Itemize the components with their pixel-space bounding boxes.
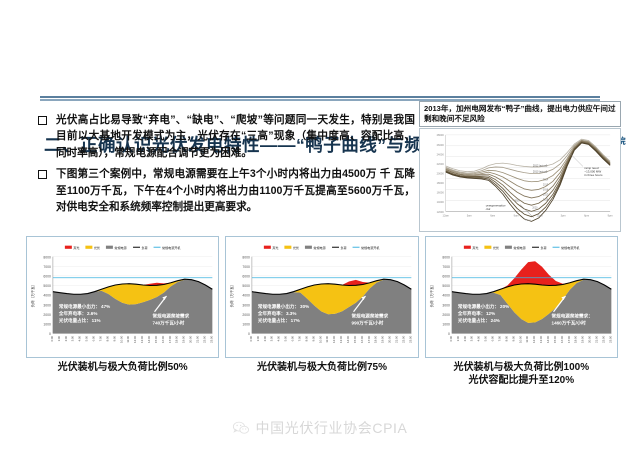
x-tick-label: 6:00: [490, 335, 494, 341]
x-tick-label: 12:00: [532, 335, 536, 343]
legend-label: 弃光: [273, 245, 279, 250]
x-tick-label: 3:00: [270, 335, 274, 341]
bullet-list: 光伏高占比易导致“弃电”、“缺电”、“爬坡”等问题同一天发生，特别是我国目前以大…: [33, 112, 415, 220]
list-item: 光伏高占比易导致“弃电”、“缺电”、“爬坡”等问题同一天发生，特别是我国目前以大…: [33, 112, 415, 161]
bullet-hanging-char: 千: [380, 168, 391, 180]
svg-text:7000: 7000: [243, 265, 251, 269]
svg-text:8000: 8000: [442, 255, 450, 259]
legend-label: 常规电源: [114, 245, 126, 250]
ramp-note-line: 常规电源爬坡需求: [352, 313, 389, 320]
duck-curve-svg: 1200014000160001800020000220002400026000…: [420, 129, 620, 231]
svg-text:28000: 28000: [437, 133, 445, 137]
x-tick-label: 5:00: [284, 335, 288, 341]
x-tick-label: 4:00: [78, 335, 82, 341]
svg-text:5000: 5000: [442, 284, 450, 288]
svg-text:7000: 7000: [43, 265, 51, 269]
x-tick-label: 2:00: [64, 335, 68, 341]
duck-curve-chart: 1200014000160001800020000220002400026000…: [419, 128, 621, 232]
x-tick-label: 14:00: [147, 335, 151, 343]
svg-text:2016: 2016: [543, 188, 549, 191]
x-tick-label: 8:00: [105, 335, 109, 341]
x-tick-label: 2:00: [462, 335, 466, 341]
x-tick-label: 18:00: [573, 335, 577, 343]
svg-text:2000: 2000: [43, 313, 51, 317]
chart-caption: 光伏装机与极大负荷比例100%光伏容配比提升至120%: [425, 362, 618, 387]
x-tick-label: 20:00: [189, 335, 193, 343]
x-tick-label: 15:00: [353, 335, 357, 343]
scenario-chart-card: 010002000300040005000600070008000负荷（万千瓦）…: [425, 236, 618, 386]
svg-text:1000: 1000: [442, 322, 450, 326]
stat-label: 光伏电量占比：: [58, 317, 91, 324]
x-tick-label: 22:00: [402, 335, 406, 343]
slide-footer: 中国光伏行业协会CPIA: [0, 406, 640, 452]
x-tick-label: 19:00: [381, 335, 385, 343]
svg-text:4000: 4000: [243, 294, 251, 298]
x-tick-label: 13:00: [339, 335, 343, 343]
svg-text:2013 (actual): 2013 (actual): [533, 171, 548, 174]
svg-text:2018: 2018: [543, 198, 549, 201]
wechat-icon: [233, 421, 250, 435]
legend-label: 光伏: [293, 245, 299, 250]
stat-value: 11%: [92, 318, 101, 323]
svg-text:3pm: 3pm: [561, 213, 566, 217]
y-axis-label: 负荷（万千瓦）: [30, 283, 35, 308]
stat-label: 全年弃电率：: [457, 310, 485, 317]
svg-text:6000: 6000: [243, 275, 251, 279]
svg-text:3000: 3000: [43, 303, 51, 307]
svg-text:9pm: 9pm: [608, 213, 613, 217]
svg-text:8000: 8000: [43, 255, 51, 259]
x-tick-label: 4:00: [476, 335, 480, 341]
svg-text:2000: 2000: [442, 313, 450, 317]
chart-caption-line: 光伏装机与极大负荷比例75%: [225, 362, 418, 375]
watermark-text: 中国光伏行业协会CPIA: [256, 418, 408, 438]
x-tick-label: 6:00: [291, 335, 295, 341]
header-divider: [40, 96, 600, 101]
legend-label: 常规电源: [314, 245, 326, 250]
x-tick-label: 0:00: [249, 335, 253, 341]
svg-text:12am: 12am: [443, 213, 449, 217]
x-tick-label: 4:00: [277, 335, 281, 341]
svg-text:5000: 5000: [243, 284, 251, 288]
x-tick-label: 18:00: [175, 335, 179, 343]
x-tick-label: 7:00: [497, 335, 501, 341]
bullet-square-icon: [38, 116, 47, 125]
svg-text:0: 0: [448, 332, 450, 336]
x-tick-label: 9:00: [312, 335, 316, 341]
x-tick-label: 23:00: [409, 335, 413, 343]
stat-label: 光伏电量占比：: [457, 317, 490, 324]
x-tick-label: 3:00: [469, 335, 473, 341]
stat-value: 20%: [500, 304, 509, 309]
slide-root: 二、正确认识光伏发电特性——“鸭子曲线”与频率调节 水电水利规划设计总院 Chi…: [0, 0, 640, 452]
ramp-note-line: 常规电源爬坡需求：: [551, 313, 592, 320]
x-tick-label: 11:00: [126, 335, 130, 342]
ramp-note-line: 常规电源爬坡需求: [153, 313, 190, 320]
stat-label: 常规电源最小出力：: [258, 303, 299, 310]
svg-text:3000: 3000: [243, 303, 251, 307]
bullet-square-icon: [38, 170, 47, 179]
x-tick-label: 5:00: [483, 335, 487, 341]
x-tick-label: 16:00: [161, 335, 165, 343]
scenario-chart-card: 010002000300040005000600070008000负荷（万千瓦）…: [26, 236, 219, 386]
stat-label: 常规电源最小出力：: [458, 303, 499, 310]
svg-text:4000: 4000: [442, 294, 450, 298]
x-tick-label: 0:00: [449, 335, 453, 341]
x-tick-label: 17:00: [367, 335, 371, 343]
x-tick-label: 16:00: [559, 335, 563, 343]
duck-series-lines: [446, 139, 610, 221]
x-tick-label: 23:00: [209, 335, 213, 343]
svg-text:1000: 1000: [43, 322, 51, 326]
x-tick-label: 1:00: [456, 335, 460, 341]
x-tick-label: 7:00: [298, 335, 302, 341]
x-tick-label: 20:00: [587, 335, 591, 343]
list-item: 下图第三个案例中，常规电源需要在上午3个小时内将出力由4500万 千 瓦降至11…: [33, 166, 415, 215]
x-tick-label: 21:00: [395, 335, 399, 343]
x-tick-label: 23:00: [608, 335, 612, 343]
x-tick-label: 2:00: [263, 335, 267, 341]
svg-text:12pm: 12pm: [536, 213, 542, 217]
legend-label: 负荷: [141, 245, 147, 250]
svg-text:2015: 2015: [543, 183, 549, 186]
x-tick-label: 6:00: [91, 335, 95, 341]
svg-text:22000: 22000: [437, 162, 445, 166]
legend-label: 光伏: [94, 245, 100, 250]
stat-label: 全年弃电率：: [58, 310, 86, 317]
x-tick-label: 14:00: [546, 335, 550, 343]
svg-text:6000: 6000: [442, 275, 450, 279]
chart-caption-line: 光伏装机与极大负荷比例50%: [26, 362, 219, 375]
x-tick-label: 21:00: [195, 335, 199, 343]
scenario-charts-row: 010002000300040005000600070008000负荷（万千瓦）…: [26, 236, 618, 386]
x-tick-label: 15:00: [552, 335, 556, 343]
svg-text:2014: 2014: [543, 178, 549, 181]
x-tick-label: 11:00: [325, 335, 329, 342]
x-tick-label: 13:00: [539, 335, 543, 343]
svg-text:14000: 14000: [437, 200, 445, 204]
scenario-chart-svg: 010002000300040005000600070008000负荷（万千瓦）…: [426, 237, 617, 357]
x-tick-label: 7:00: [98, 335, 102, 341]
legend-label: 负荷: [540, 245, 546, 250]
scenario-chart: 010002000300040005000600070008000负荷（万千瓦）…: [425, 236, 618, 358]
svg-text:2019: 2019: [514, 199, 520, 202]
legend-label: 负荷: [341, 245, 347, 250]
svg-text:16000: 16000: [437, 191, 445, 195]
svg-text:in three hours: in three hours: [584, 173, 603, 177]
svg-text:0: 0: [49, 332, 51, 336]
bullet-text-1: 光伏高占比易导致“弃电”、“缺电”、“爬坡”等问题同一天发生，特别是我国目前以大…: [56, 112, 415, 161]
x-tick-label: 18:00: [374, 335, 378, 343]
x-tick-label: 10:00: [119, 335, 123, 343]
svg-text:7000: 7000: [442, 265, 450, 269]
svg-text:4000: 4000: [43, 294, 51, 298]
x-tick-label: 5:00: [85, 335, 89, 341]
x-tick-label: 16:00: [360, 335, 364, 343]
x-tick-label: 1:00: [57, 335, 61, 341]
svg-text:6pm: 6pm: [584, 213, 589, 217]
scenario-chart: 010002000300040005000600070008000负荷（万千瓦）…: [26, 236, 219, 358]
svg-text:2020: 2020: [532, 207, 538, 210]
x-tick-label: 22:00: [202, 335, 206, 343]
x-tick-label: 8:00: [504, 335, 508, 341]
legend-label: 弃光: [73, 245, 79, 250]
stat-value: 30%: [300, 304, 309, 309]
chart-caption-line: 光伏容配比提升至120%: [425, 375, 618, 388]
x-tick-label: 8:00: [305, 335, 309, 341]
x-tick-label: 10:00: [518, 335, 522, 343]
y-axis-label: 负荷（万千瓦）: [229, 283, 234, 308]
stat-label: 光伏电量占比：: [257, 317, 290, 324]
svg-text:0: 0: [248, 332, 250, 336]
legend-label: 常规电源: [513, 245, 525, 250]
ramp-note-line: 990万千瓦/小时: [352, 320, 384, 327]
x-tick-label: 14:00: [346, 335, 350, 343]
svg-text:6am: 6am: [490, 213, 495, 217]
x-tick-label: 12:00: [133, 335, 137, 343]
stat-value: 17%: [291, 318, 300, 323]
svg-text:2017: 2017: [543, 193, 549, 196]
svg-text:9am: 9am: [514, 213, 519, 217]
svg-text:26000: 26000: [437, 143, 445, 147]
chart-caption: 光伏装机与极大负荷比例75%: [225, 362, 418, 375]
svg-text:1000: 1000: [243, 322, 251, 326]
svg-text:20000: 20000: [437, 172, 445, 176]
legend-label: 光伏: [493, 245, 499, 250]
x-tick-label: 3:00: [71, 335, 75, 341]
legend-label: 常规电源开机: [361, 245, 379, 250]
x-tick-label: 22:00: [601, 335, 605, 343]
svg-text:Hour: Hour: [525, 219, 530, 222]
x-tick-label: 15:00: [154, 335, 158, 343]
x-tick-label: 17:00: [168, 335, 172, 343]
x-tick-label: 20:00: [388, 335, 392, 343]
legend-label: 常规电源开机: [561, 245, 579, 250]
stat-label: 全年弃电率：: [257, 310, 285, 317]
svg-text:3am: 3am: [467, 213, 472, 217]
x-tick-label: 19:00: [182, 335, 186, 343]
bullet-text-2a: 下图第三个案例中，常规电源需要在上午3个小时内将出力由4500万: [56, 168, 377, 180]
chart-caption-line: 光伏装机与极大负荷比例100%: [425, 362, 618, 375]
stat-value: 3.3%: [286, 311, 296, 316]
x-tick-label: 19:00: [580, 335, 584, 343]
x-tick-label: 12:00: [332, 335, 336, 343]
scenario-chart-svg: 010002000300040005000600070008000负荷（万千瓦）…: [226, 237, 417, 357]
stat-value: 2.6%: [87, 311, 97, 316]
legend-label: 弃光: [472, 245, 478, 250]
scenario-chart-card: 010002000300040005000600070008000负荷（万千瓦）…: [225, 236, 418, 386]
svg-text:18000: 18000: [437, 181, 445, 185]
y-axis-label: 负荷（万千瓦）: [429, 283, 434, 308]
duck-curve-note: 2013年，加州电网发布“鸭子”曲线，提出电力供应午间过剩和晚间不足风险: [419, 101, 621, 127]
svg-text:risk: risk: [486, 207, 491, 211]
stat-value: 47%: [101, 304, 110, 309]
svg-text:2000: 2000: [243, 313, 251, 317]
stat-label: 常规电源最小出力：: [59, 303, 100, 310]
svg-text:24000: 24000: [437, 152, 445, 156]
watermark: 中国光伏行业协会CPIA: [233, 418, 408, 438]
svg-text:5000: 5000: [43, 284, 51, 288]
ramp-note-line: 1460万千瓦/小时: [551, 320, 586, 327]
x-tick-label: 17:00: [566, 335, 570, 343]
svg-text:6000: 6000: [43, 275, 51, 279]
chart-caption: 光伏装机与极大负荷比例50%: [26, 362, 219, 375]
stat-value: 24%: [490, 318, 499, 323]
stat-value: 12%: [486, 311, 495, 316]
x-tick-label: 9:00: [112, 335, 116, 341]
x-tick-label: 10:00: [319, 335, 323, 343]
svg-text:3000: 3000: [442, 303, 450, 307]
scenario-chart-svg: 010002000300040005000600070008000负荷（万千瓦）…: [27, 237, 218, 357]
x-tick-label: 1:00: [256, 335, 260, 341]
ramp-note-line: 740万千瓦/小时: [153, 320, 185, 327]
x-tick-label: 11:00: [525, 335, 529, 342]
svg-text:8000: 8000: [243, 255, 251, 259]
svg-text:2012 (actual): 2012 (actual): [533, 164, 548, 167]
scenario-chart: 010002000300040005000600070008000负荷（万千瓦）…: [225, 236, 418, 358]
svg-text:12000: 12000: [437, 210, 445, 214]
x-tick-label: 9:00: [511, 335, 515, 341]
legend-label: 常规电源开机: [162, 245, 180, 250]
x-tick-label: 21:00: [594, 335, 598, 343]
x-tick-label: 0:00: [50, 335, 54, 341]
x-tick-label: 13:00: [140, 335, 144, 343]
